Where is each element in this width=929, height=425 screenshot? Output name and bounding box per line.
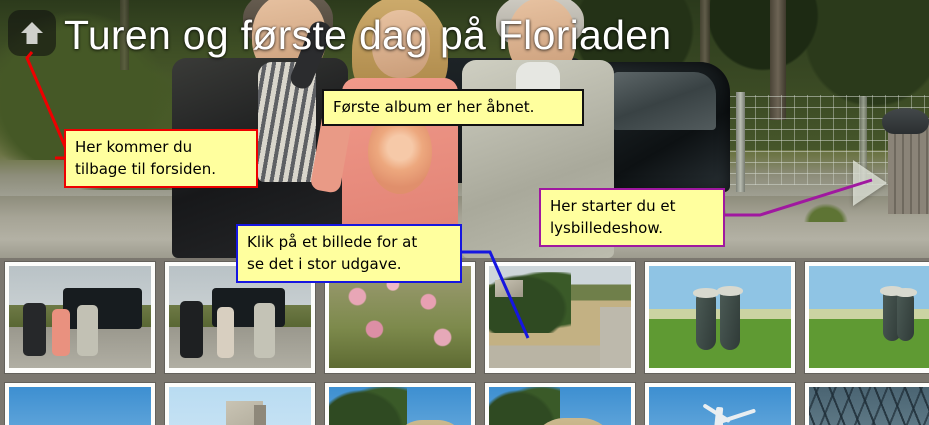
thumbnail-image	[809, 266, 929, 368]
home-up-button[interactable]	[8, 10, 56, 56]
callout-back-to-front-page: Her kommer du tilbage til forsiden.	[64, 129, 258, 188]
wooden-bin	[888, 122, 929, 214]
thumbnail-image	[649, 266, 791, 368]
thumbnail-strip[interactable]	[0, 258, 929, 425]
thumbnail-row-1	[0, 262, 929, 373]
thumbnail-4[interactable]	[485, 262, 635, 373]
callout-start-slideshow: Her starter du et lysbilledeshow.	[539, 188, 725, 247]
photo-album-viewer: Turen og første dag på Floriaden	[0, 0, 929, 425]
up-arrow-icon	[17, 18, 47, 48]
grass	[800, 200, 852, 222]
thumbnail-5[interactable]	[645, 262, 795, 373]
thumbnail-8[interactable]	[165, 383, 315, 425]
thumbnail-1[interactable]	[5, 262, 155, 373]
fence-post	[736, 92, 745, 192]
thumbnail-image	[489, 266, 631, 368]
thumbnail-image	[329, 387, 471, 425]
thumbnail-7[interactable]	[5, 383, 155, 425]
thumbnail-10[interactable]	[485, 383, 635, 425]
thumbnail-image	[9, 266, 151, 368]
callout-click-image-large: Klik på et billede for at se det i stor …	[236, 224, 462, 283]
thumbnail-image	[649, 387, 791, 425]
play-triangle-icon[interactable]	[853, 160, 887, 206]
thumbnail-11[interactable]	[645, 383, 795, 425]
bin-lid	[882, 108, 929, 134]
thumbnail-image	[169, 387, 311, 425]
thumbnail-12[interactable]	[805, 383, 929, 425]
page-title: Turen og første dag på Floriaden	[64, 12, 671, 58]
callout-first-album-opened: Første album er her åbnet.	[322, 89, 584, 126]
thumbnail-image	[9, 387, 151, 425]
car-window	[612, 72, 716, 130]
thumbnail-row-2	[0, 383, 929, 425]
thumbnail-image	[809, 387, 929, 425]
thumbnail-9[interactable]	[325, 383, 475, 425]
thumbnail-image	[489, 387, 631, 425]
thumbnail-6[interactable]	[805, 262, 929, 373]
